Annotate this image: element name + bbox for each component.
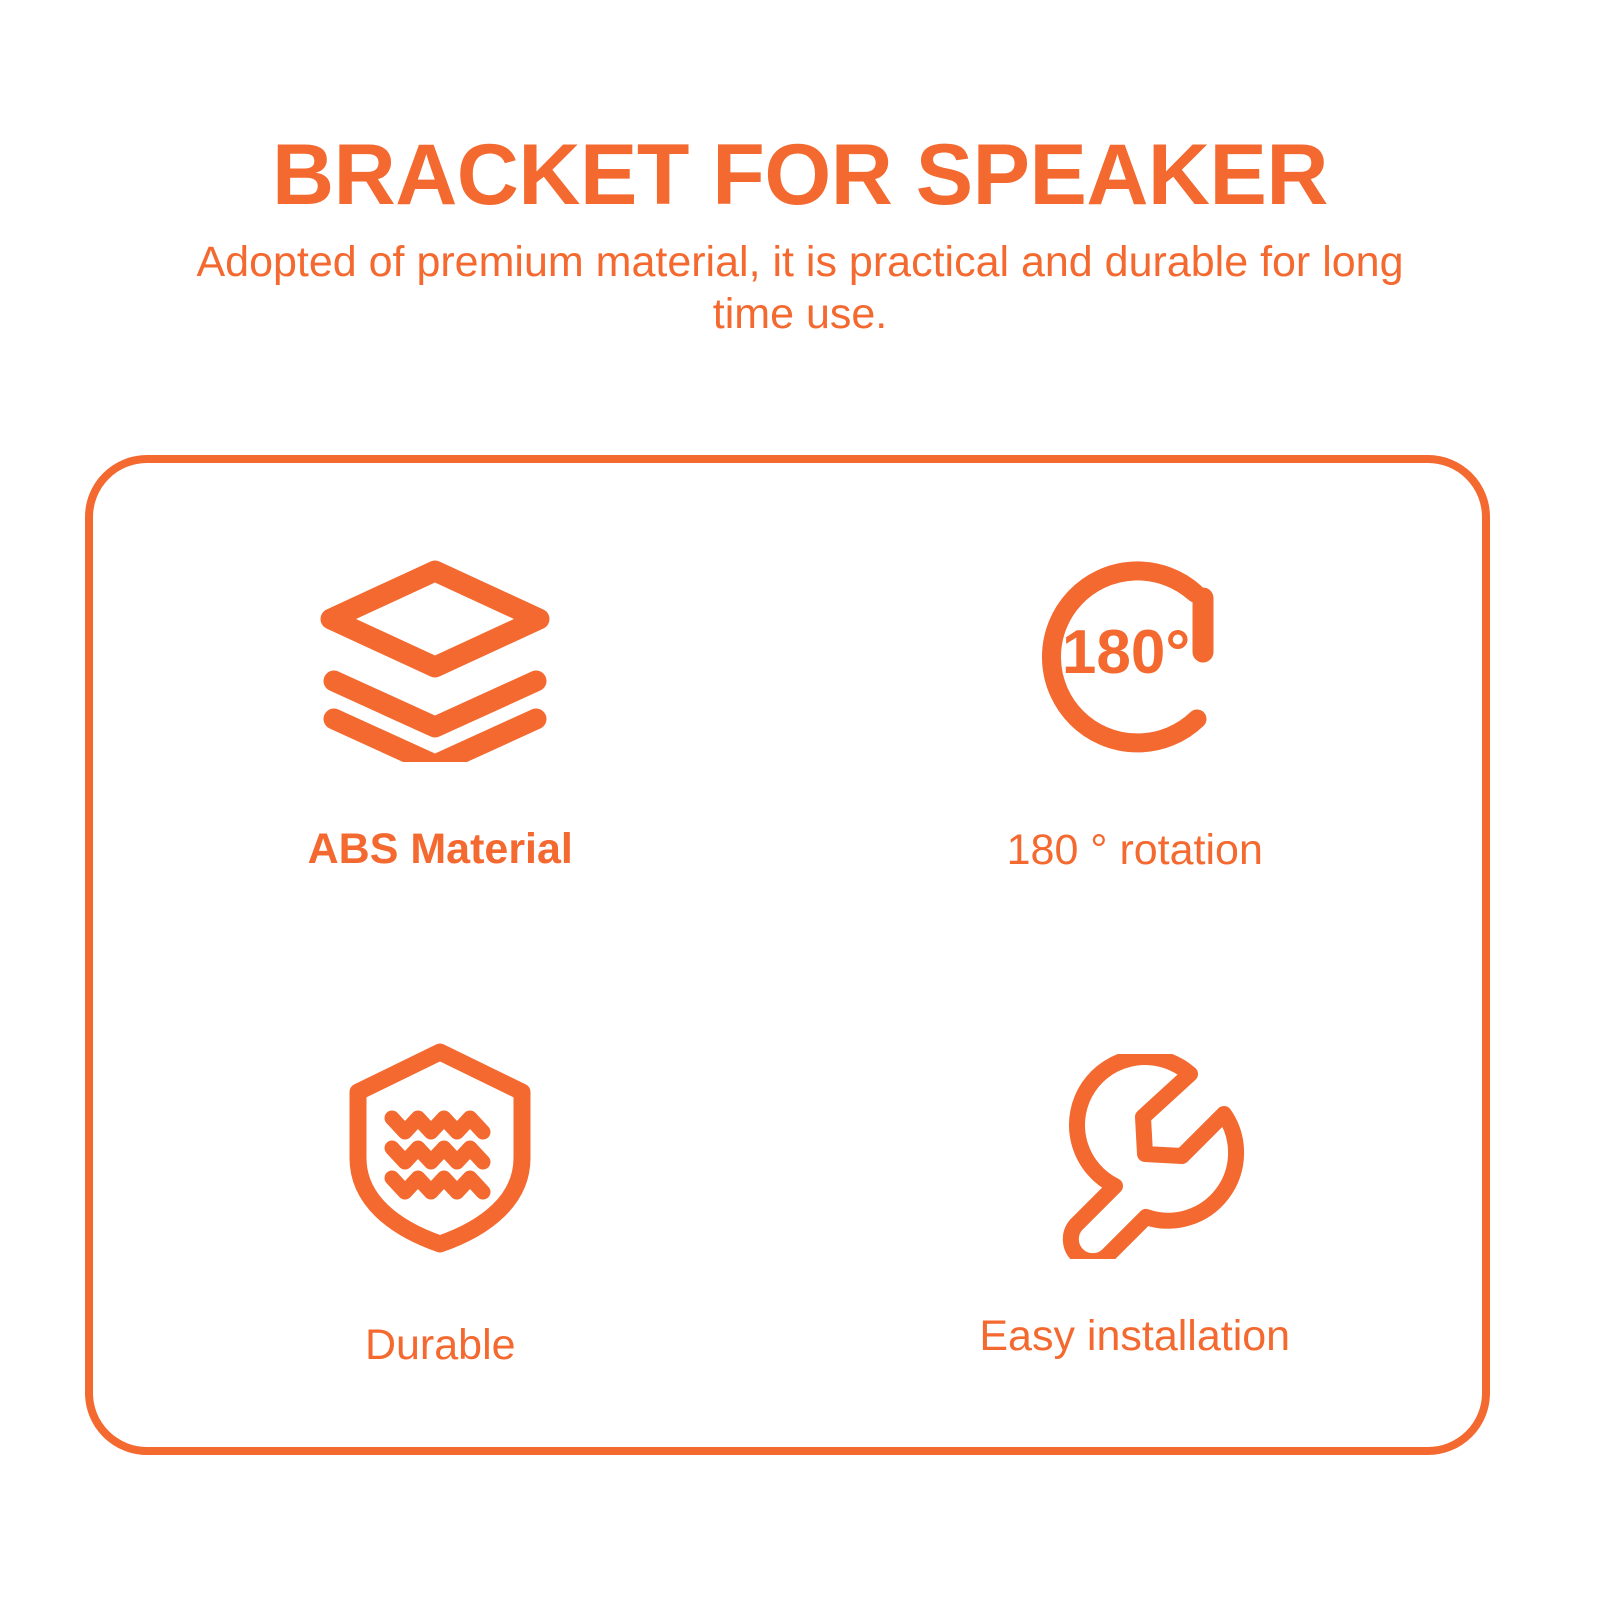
feature-item-abs-material: ABS Material bbox=[93, 463, 788, 955]
page-subtitle: Adopted of premium material, it is pract… bbox=[155, 218, 1445, 341]
feature-item-durable: Durable bbox=[93, 955, 788, 1447]
feature-grid: ABS Material 180° 180 ° rotation bbox=[93, 463, 1482, 1447]
rotation-icon-value: 180° bbox=[1062, 618, 1190, 687]
feature-label-easy-installation: Easy installation bbox=[979, 1313, 1290, 1360]
feature-label-abs-material: ABS Material bbox=[308, 826, 573, 873]
rotation-180-icon: 180° bbox=[1027, 543, 1242, 773]
header: BRACKET FOR SPEAKER Adopted of premium m… bbox=[0, 0, 1600, 341]
feature-label-180-rotation: 180 ° rotation bbox=[1007, 827, 1263, 874]
feature-item-easy-installation: Easy installation bbox=[788, 955, 1483, 1447]
feature-label-durable: Durable bbox=[365, 1322, 516, 1369]
feature-panel: ABS Material 180° 180 ° rotation bbox=[85, 455, 1490, 1455]
wrench-icon bbox=[1040, 1041, 1245, 1271]
layers-icon bbox=[320, 544, 550, 774]
feature-item-180-rotation: 180° 180 ° rotation bbox=[788, 463, 1483, 955]
page-title: BRACKET FOR SPEAKER bbox=[0, 0, 1600, 218]
shield-waves-icon bbox=[340, 1032, 540, 1262]
